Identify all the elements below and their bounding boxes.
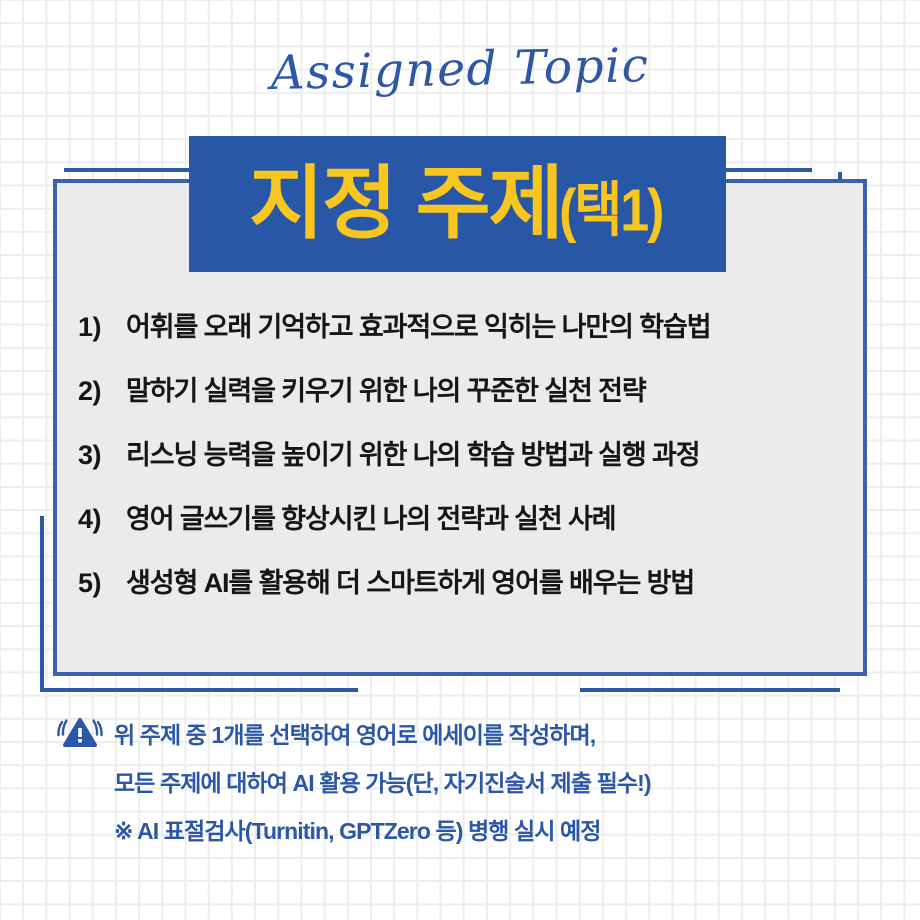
frame-bracket-bottom-right [560,688,882,694]
list-item[interactable]: 2) 말하기 실력을 키우기 위한 나의 꾸준한 실천 전략 [78,369,868,408]
warning-icon [46,716,114,750]
topic-number: 5) [78,568,126,599]
banner-title-main: 지정 주제 [249,164,562,244]
bracket-rule [40,688,358,692]
title-banner: 지정 주제(택1) [189,136,726,272]
note-text: ※ AI 표절검사(Turnitin, GPTZero 등) 병행 실시 예정 [114,812,601,846]
list-item[interactable]: 5) 생성형 AI를 활용해 더 스마트하게 영어를 배우는 방법 [78,561,868,600]
topic-number: 3) [78,440,126,471]
note-line: 위 주제 중 1개를 선택하여 영어로 에세이를 작성하며, [46,716,906,750]
topic-label: 어휘를 오래 기억하고 효과적으로 익히는 나만의 학습법 [126,305,710,344]
bracket-rule [40,516,44,688]
list-item[interactable]: 3) 리스닝 능력을 높이기 위한 나의 학습 방법과 실행 과정 [78,433,868,472]
bracket-rule [580,688,840,692]
note-line: 모든 주제에 대하여 AI 활용 가능(단, 자기진술서 제출 필수!) [46,764,906,798]
note-text: 위 주제 중 1개를 선택하여 영어로 에세이를 작성하며, [114,716,595,750]
banner-title-suffix: (택1) [559,161,662,247]
topic-label: 영어 글쓰기를 향상시킨 나의 전략과 실천 사례 [126,497,615,536]
topic-list: 1) 어휘를 오래 기억하고 효과적으로 익히는 나만의 학습법 2) 말하기 … [78,305,868,625]
topic-number: 4) [78,504,126,535]
topic-number: 1) [78,312,126,343]
poster-canvas: Assigned Topic 지정 주제(택1) 1) 어휘를 오래 기억하고 … [0,0,920,920]
note-line: ※ AI 표절검사(Turnitin, GPTZero 등) 병행 실시 예정 [46,812,906,846]
topic-label: 리스닝 능력을 높이기 위한 나의 학습 방법과 실행 과정 [126,433,700,472]
note-text: 모든 주제에 대하여 AI 활용 가능(단, 자기진술서 제출 필수!) [114,764,651,798]
list-item[interactable]: 4) 영어 글쓰기를 향상시킨 나의 전략과 실천 사례 [78,497,868,536]
topic-number: 2) [78,376,126,407]
footer-notes: 위 주제 중 1개를 선택하여 영어로 에세이를 작성하며, 모든 주제에 대하… [46,716,906,860]
list-item[interactable]: 1) 어휘를 오래 기억하고 효과적으로 익히는 나만의 학습법 [78,305,868,344]
script-title: Assigned Topic [0,32,920,106]
topic-label: 말하기 실력을 키우기 위한 나의 꾸준한 실천 전략 [126,369,646,408]
topic-label: 생성형 AI를 활용해 더 스마트하게 영어를 배우는 방법 [126,561,694,600]
